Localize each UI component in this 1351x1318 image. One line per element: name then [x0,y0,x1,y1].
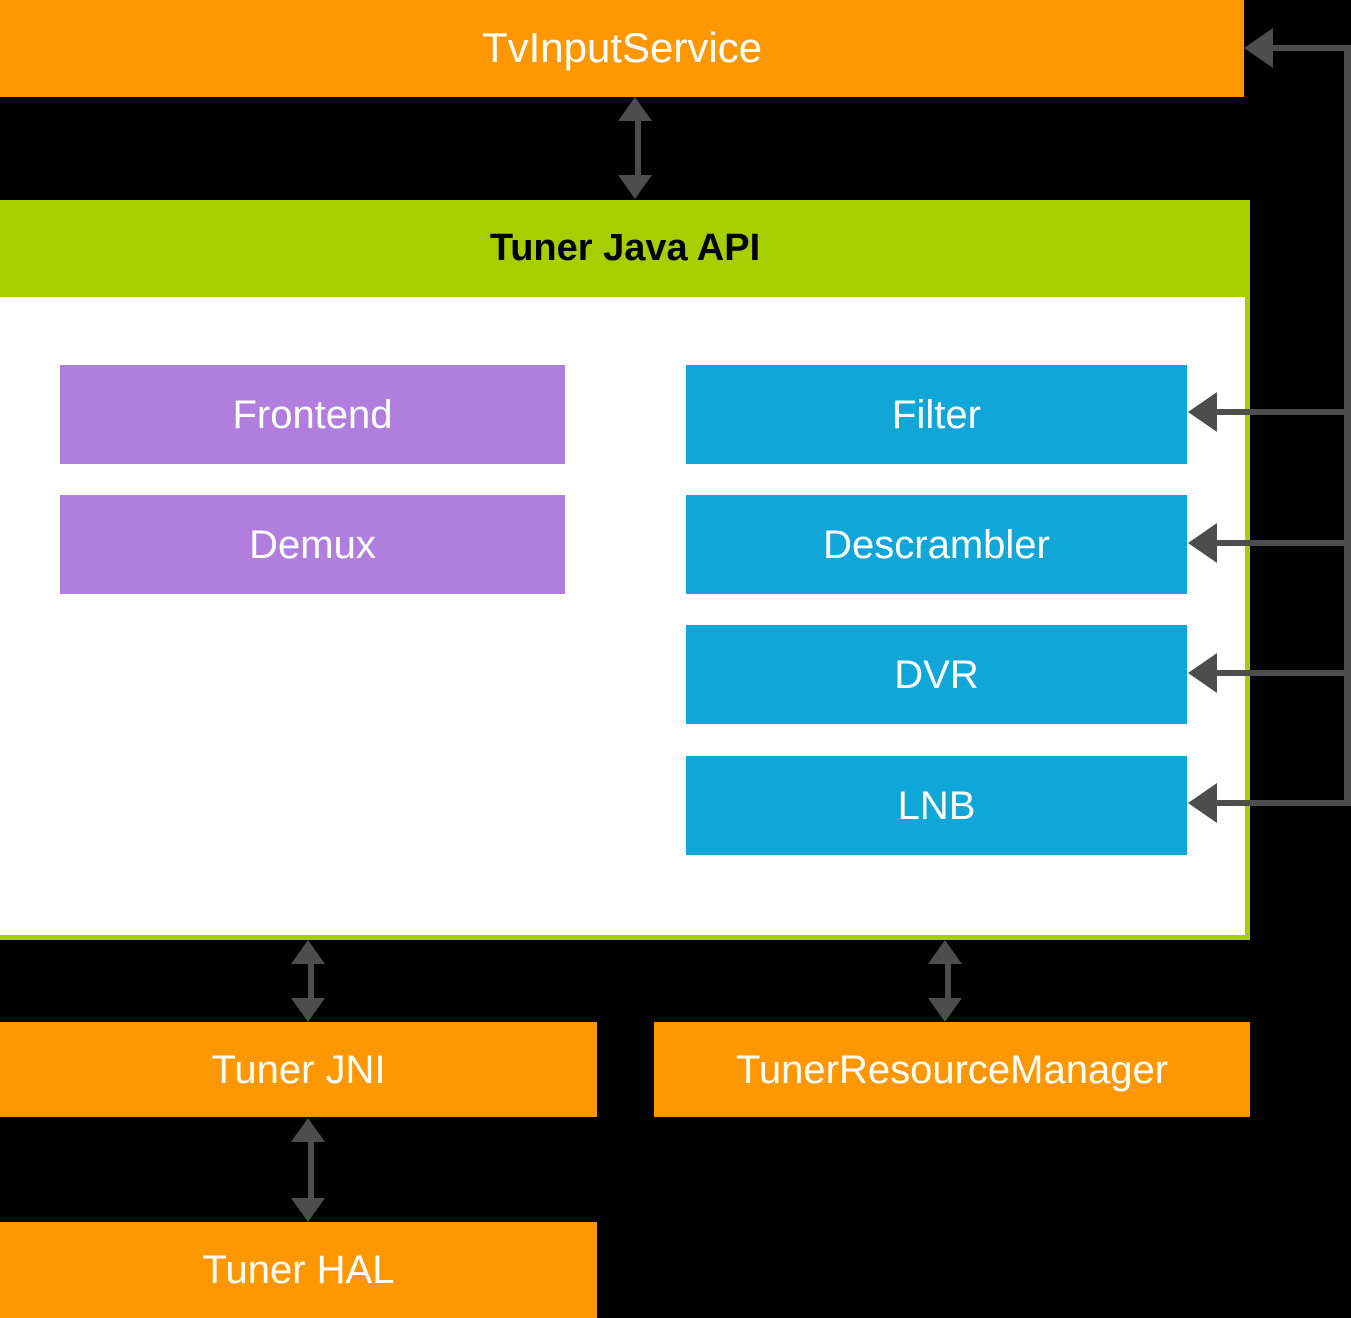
box-tuner-resource-manager[interactable]: TunerResourceManager [654,1022,1250,1117]
box-tv-input-service[interactable]: TvInputService [0,0,1244,97]
box-dvr[interactable]: DVR [686,625,1187,724]
arrow-down-icon-api-to-trm [928,998,962,1022]
arrow-down-icon-jni-to-hal [291,1198,325,1222]
connector-bus-to-dvr-line [1216,670,1351,676]
connector-bus-to-descrambler-line [1216,540,1351,546]
arrow-left-icon-bus-to-lnb [1188,783,1217,823]
arrow-down-icon-api-to-jni [291,998,325,1022]
diagram-canvas: TvInputService Tuner Java API Frontend D… [0,0,1351,1318]
connector-bus-to-filter-line [1216,409,1351,415]
box-descrambler[interactable]: Descrambler [686,495,1187,594]
box-frontend[interactable]: Frontend [60,365,565,464]
arrow-up-icon-api-to-jni [291,940,325,964]
arrow-down-icon-service-to-api [618,175,652,199]
arrow-left-icon-bus-to-descrambler [1188,523,1217,563]
box-demux[interactable]: Demux [60,495,565,594]
connector-bus-to-lnb-line [1216,800,1351,806]
box-tuner-jni[interactable]: Tuner JNI [0,1022,597,1117]
connector-jni-to-hal-line [308,1136,314,1200]
box-tuner-hal[interactable]: Tuner HAL [0,1222,597,1318]
arrow-left-icon-bus-to-filter [1188,392,1217,432]
arrow-left-icon-bus-to-service [1244,28,1273,68]
arrow-up-icon-jni-to-hal [291,1118,325,1142]
arrow-up-icon-service-to-api [618,97,652,121]
arrow-left-icon-bus-to-dvr [1188,653,1217,693]
box-filter[interactable]: Filter [686,365,1187,464]
header-tuner-java-api: Tuner Java API [0,200,1250,297]
box-lnb[interactable]: LNB [686,756,1187,855]
arrow-up-icon-api-to-trm [928,940,962,964]
connector-right-bus-vertical [1344,48,1351,806]
